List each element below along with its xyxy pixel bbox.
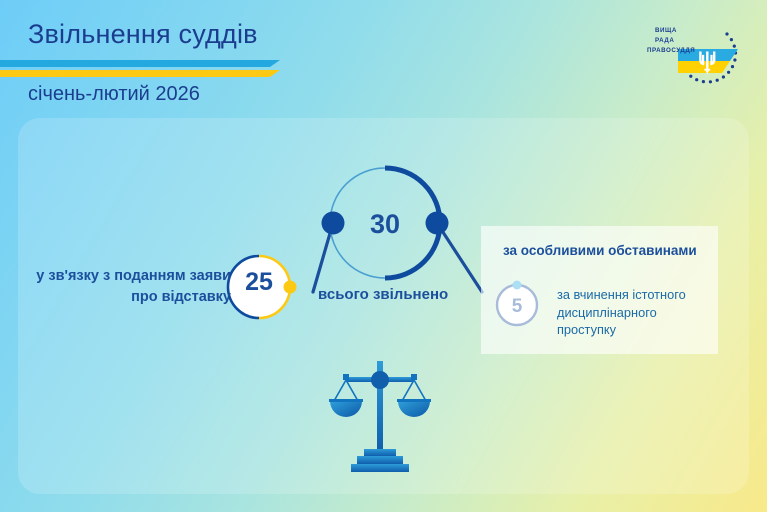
hcj-logo: ВИЩА РАДА ПРАВОСУДДЯ bbox=[641, 8, 747, 100]
ukraine-flag-divider bbox=[0, 60, 280, 80]
page-title: Звільнення суддів bbox=[28, 19, 258, 50]
resignation-label: у зв'язку з поданням заяви про відставку bbox=[36, 266, 231, 308]
special-card-title: за особливими обставинами bbox=[503, 243, 697, 258]
scales-of-justice-icon bbox=[324, 355, 436, 475]
total-label: всього звільнено bbox=[318, 286, 448, 303]
total-value: 30 bbox=[355, 209, 415, 240]
infographic-poster: Звільнення суддів січень-лютий 2026 bbox=[0, 0, 767, 512]
logo-text-line-3: ПРАВОСУДДЯ bbox=[647, 47, 695, 54]
logo-text-line-1: ВИЩА bbox=[655, 27, 677, 34]
poster-header: Звільнення суддів січень-лютий 2026 bbox=[0, 0, 767, 118]
resignation-value: 25 bbox=[231, 268, 287, 297]
flag-stripe-blue bbox=[0, 60, 280, 67]
special-card-description: за вчинення істотного дисциплінарного пр… bbox=[557, 286, 709, 339]
special-circumstances-card: за особливими обставинами за вчинення іс… bbox=[481, 226, 718, 354]
page-subtitle: січень-лютий 2026 bbox=[28, 83, 200, 106]
flag-stripe-yellow bbox=[0, 70, 280, 77]
logo-text-line-2: РАДА bbox=[655, 37, 674, 44]
